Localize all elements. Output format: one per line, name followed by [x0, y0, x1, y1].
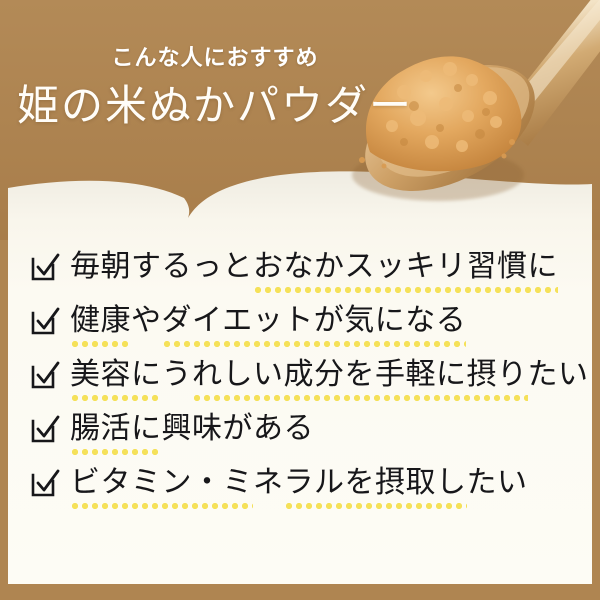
list-item: 健康やダイエットが気になる [30, 294, 575, 348]
list-item-text: 美容にうれしい成分を手軽に摂りたい [70, 358, 589, 392]
list-item-text: 腸活に興味がある [70, 412, 314, 446]
list-item-text: 毎朝するっとおなかスッキリ習慣に [70, 250, 558, 284]
list-item: 腸活に興味がある [30, 402, 575, 456]
list-item: 毎朝するっとおなかスッキリ習慣に [30, 240, 575, 294]
checked-box-icon [30, 414, 60, 444]
list-item: ビタミン・ミネラルを摂取したい [30, 456, 575, 510]
header-subtitle: こんな人におすすめ [0, 40, 430, 72]
checked-box-icon [30, 468, 60, 498]
list-item-text: 健康やダイエットが気になる [70, 304, 466, 338]
page-title: 姫の米ぬかパウダー [0, 72, 430, 133]
checked-box-icon [30, 360, 60, 390]
checked-box-icon [30, 252, 60, 282]
list-item: 美容にうれしい成分を手軽に摂りたい [30, 348, 575, 402]
checked-box-icon [30, 306, 60, 336]
promo-banner: 毎朝するっとおなかスッキリ習慣に 健康やダイエットが気になる 美容にうれしい成分… [0, 0, 600, 600]
benefits-checklist: 毎朝するっとおなかスッキリ習慣に 健康やダイエットが気になる 美容にうれしい成分… [30, 240, 575, 510]
list-item-text: ビタミン・ミネラルを摂取したい [70, 466, 528, 500]
